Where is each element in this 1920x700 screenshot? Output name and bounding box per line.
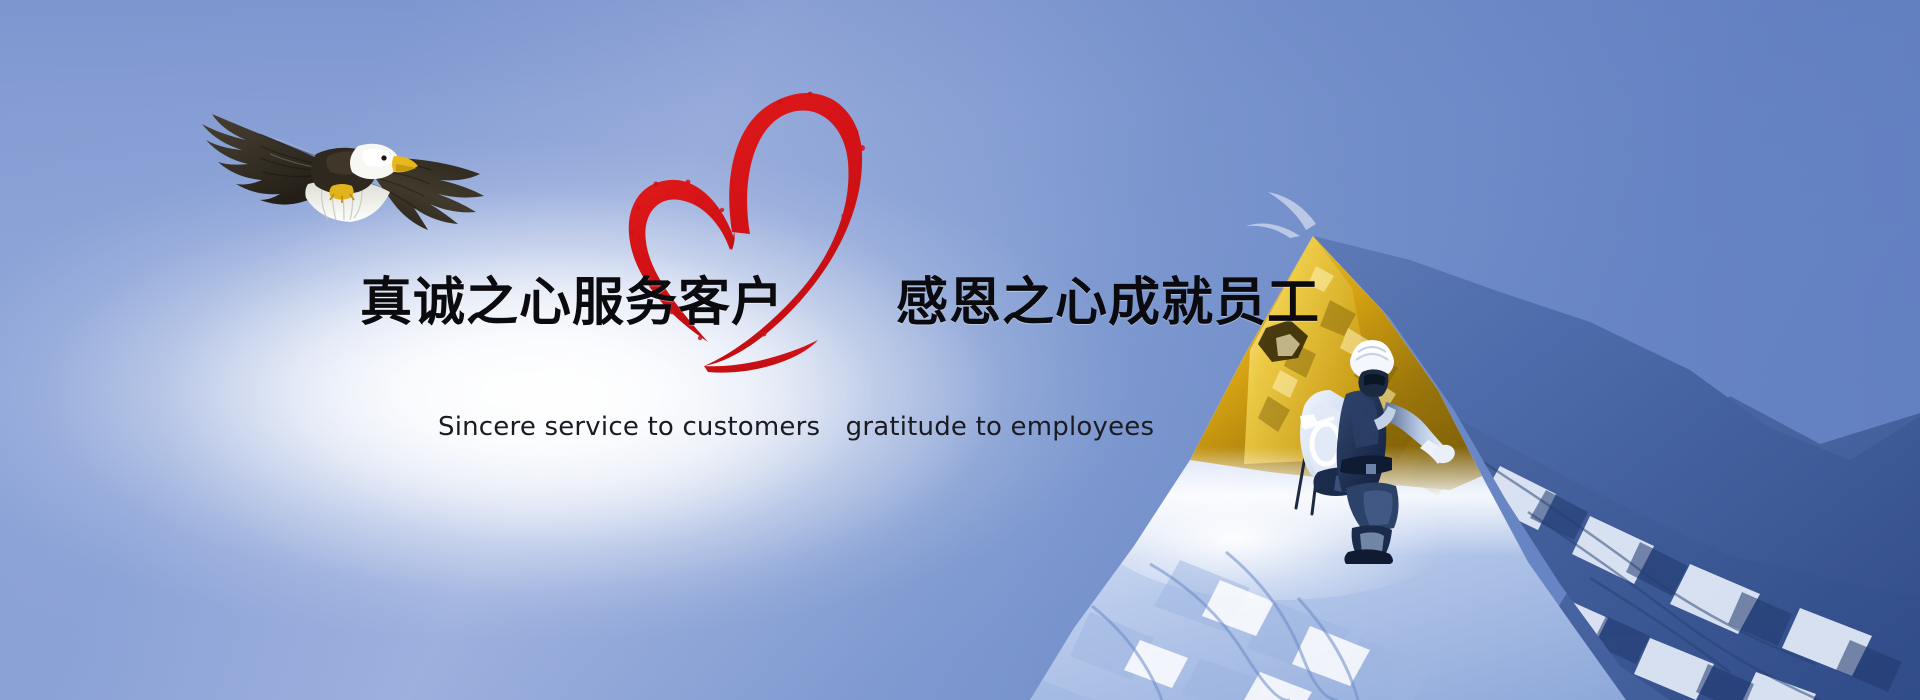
mountaineer-illustration xyxy=(1290,332,1470,564)
heart-icon xyxy=(612,62,882,372)
heart-illustration xyxy=(612,62,882,372)
eagle-icon xyxy=(182,98,482,238)
mountain-icon xyxy=(1030,160,1920,700)
corporate-culture-banner: 真诚之心服务客户 感恩之心成就员工 Sincere service to cus… xyxy=(0,0,1920,700)
eagle-illustration xyxy=(182,98,482,238)
mountain-illustration xyxy=(1030,160,1920,700)
climber-icon xyxy=(1290,332,1470,564)
